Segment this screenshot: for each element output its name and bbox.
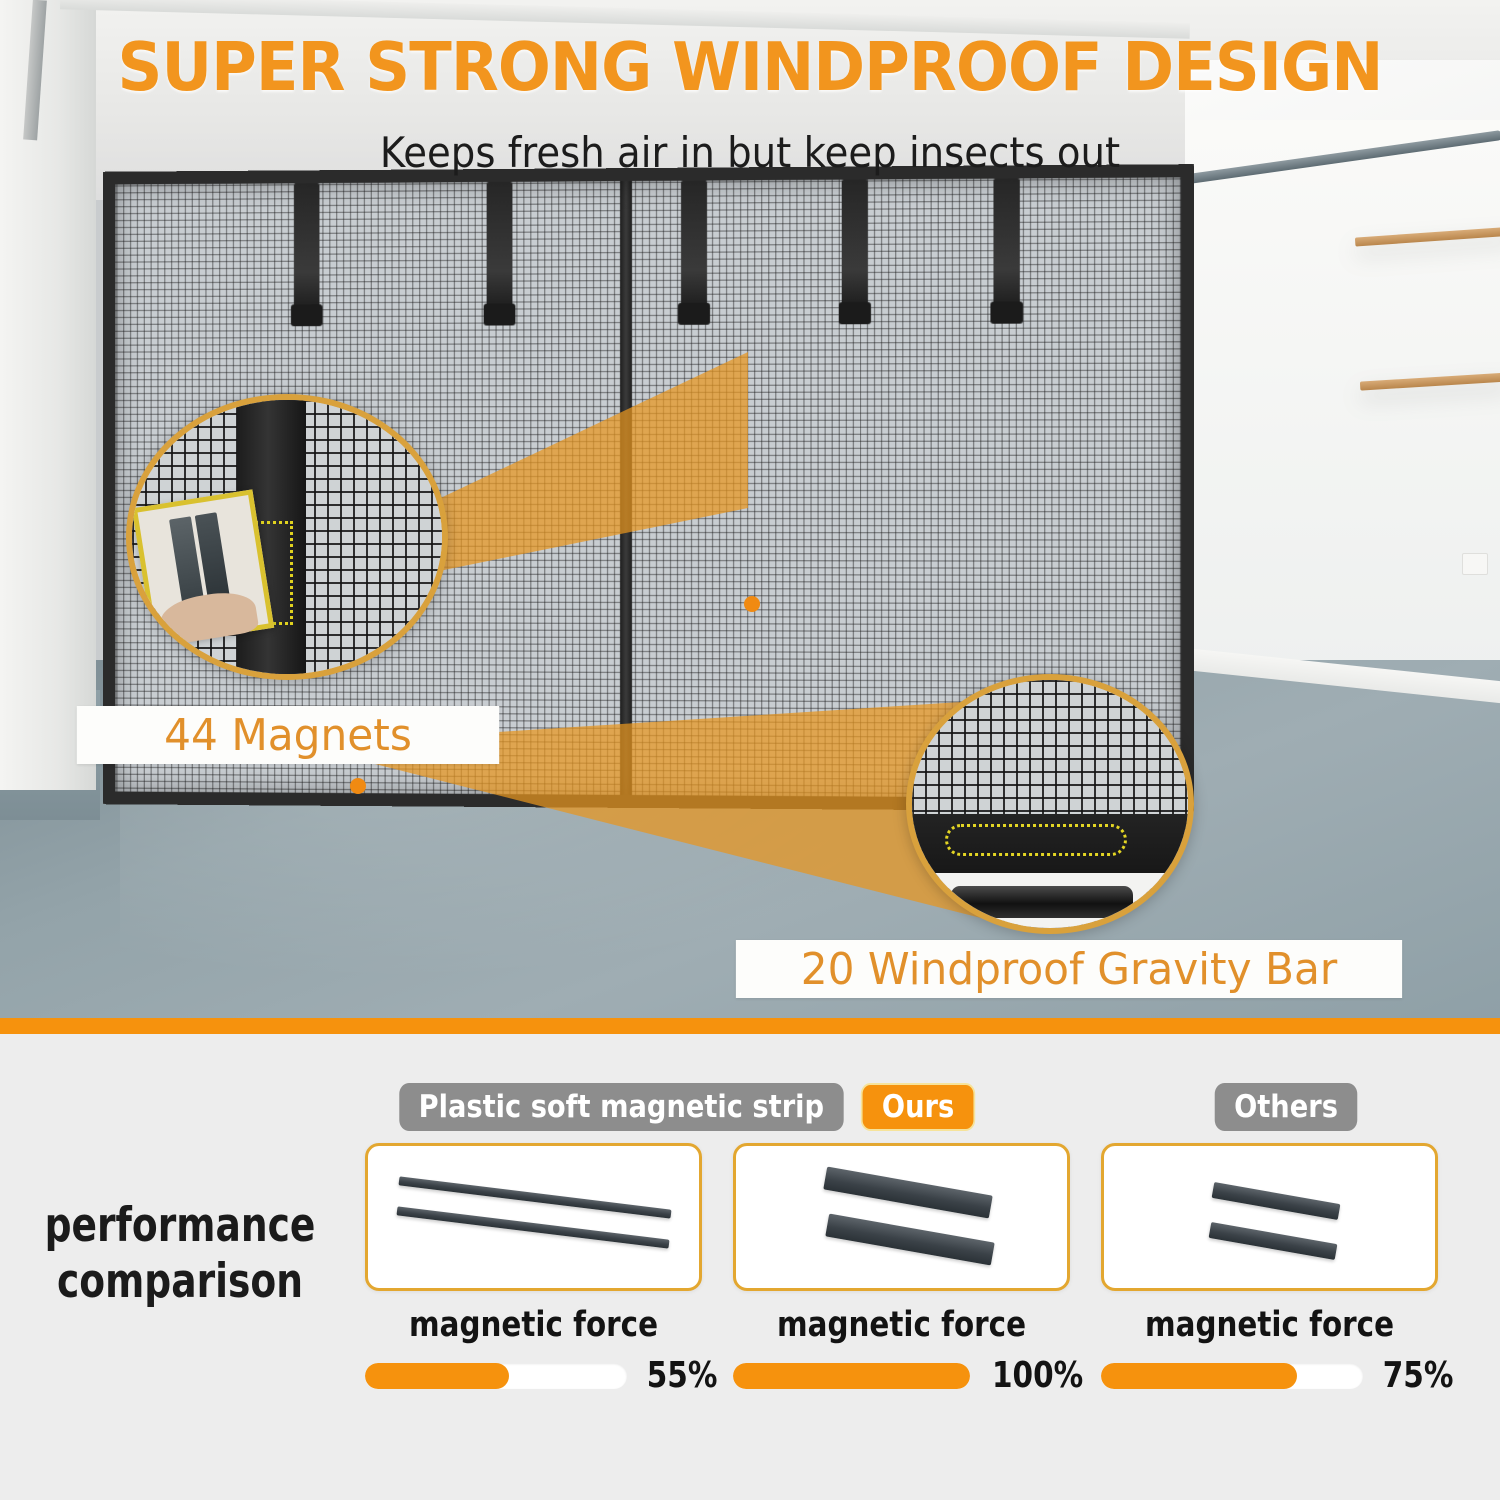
magnet-strip-sample	[825, 1214, 994, 1266]
magnet-closeup-inset	[132, 489, 274, 646]
progress-fill	[733, 1363, 970, 1389]
beam-anchor-dot	[744, 596, 760, 612]
page-subtitle: Keeps fresh air in but keep insects out	[60, 128, 1440, 177]
progress-track	[733, 1363, 970, 1389]
garage-door-frame-left	[0, 0, 96, 790]
hanging-strap	[487, 182, 513, 310]
metric-bar-row: 75%	[1101, 1355, 1461, 1396]
comparison-column-ours: Ours magnetic force 100%	[733, 1080, 1103, 1396]
wall-outlet	[1462, 553, 1488, 575]
metric-bar-row: 100%	[733, 1355, 1093, 1396]
product-sample-card	[365, 1143, 702, 1291]
progress-percent-label: 55%	[647, 1355, 718, 1396]
heading-line-2: comparison	[44, 1254, 316, 1310]
product-sample-card	[1101, 1143, 1438, 1291]
performance-comparison-heading: performance comparison	[44, 1198, 316, 1310]
metric-label: magnetic force	[760, 1305, 1043, 1345]
progress-fill	[365, 1363, 509, 1389]
progress-track	[1101, 1363, 1363, 1389]
infographic-page: SUPER STRONG WINDPROOF DESIGN Keeps fres…	[0, 0, 1500, 1500]
magnet-detail-circle	[126, 394, 448, 680]
metric-bar-row: 55%	[365, 1355, 725, 1396]
garage-back-wall	[1185, 120, 1500, 680]
magnet-strip-sample	[1212, 1182, 1341, 1220]
column-pill-label: Ours	[861, 1083, 976, 1131]
pill-wrap: Plastic soft magnetic strip	[365, 1080, 735, 1134]
metric-label: magnetic force	[392, 1305, 675, 1345]
gravity-bar-detail-circle	[906, 674, 1194, 934]
progress-percent-label: 100%	[992, 1355, 1083, 1396]
section-divider	[0, 1018, 1500, 1034]
hanging-strap	[681, 181, 707, 309]
page-title: SUPER STRONG WINDPROOF DESIGN	[53, 28, 1448, 106]
comparison-column-plastic: Plastic soft magnetic strip magnetic for…	[365, 1080, 735, 1396]
progress-fill	[1101, 1363, 1297, 1389]
hanging-strap	[842, 179, 868, 308]
column-pill-label: Others	[1215, 1083, 1358, 1131]
pill-wrap: Ours	[733, 1080, 1103, 1134]
product-sample-card	[733, 1143, 1070, 1291]
gravity-bar-callout: 20 Windproof Gravity Bar	[736, 940, 1402, 998]
gravity-bar-highlight-marker	[945, 824, 1127, 856]
product-photo-section: SUPER STRONG WINDPROOF DESIGN Keeps fres…	[0, 0, 1500, 1018]
pill-wrap: Others	[1101, 1080, 1471, 1134]
progress-percent-label: 75%	[1383, 1355, 1454, 1396]
magnets-callout: 44 Magnets	[77, 706, 499, 764]
beam-anchor-dot	[350, 778, 366, 794]
heading-line-1: performance	[44, 1198, 316, 1254]
progress-track	[365, 1363, 627, 1389]
hanging-strap	[294, 183, 320, 310]
hanging-strap	[993, 178, 1019, 307]
metric-label: magnetic force	[1128, 1305, 1411, 1345]
magnet-strip-sample	[1209, 1222, 1338, 1260]
gravity-bar-piece	[951, 886, 1133, 918]
comparison-column-others: Others magnetic force 75%	[1101, 1080, 1471, 1396]
magnet-strip-sample	[823, 1167, 992, 1219]
